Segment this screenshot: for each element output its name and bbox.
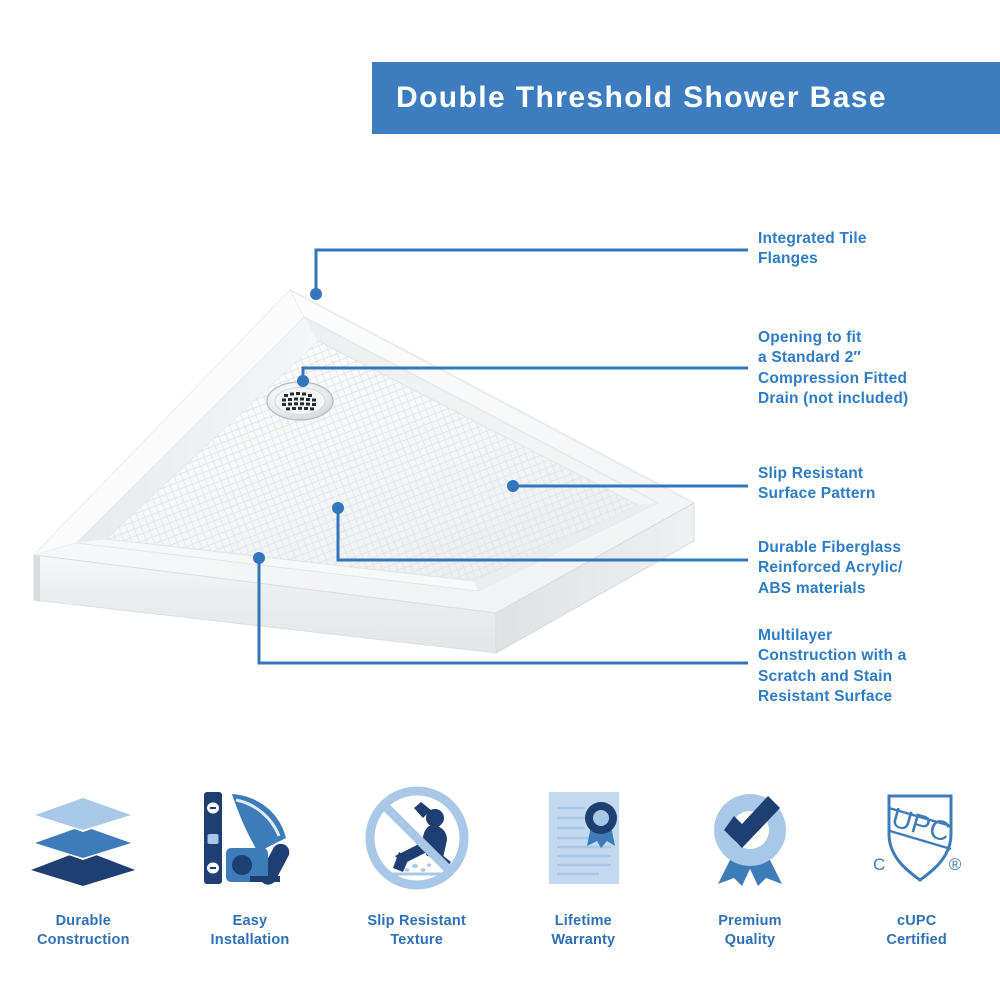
check-rosette-icon xyxy=(688,778,813,898)
feature-label: Lifetime Warranty xyxy=(551,912,615,949)
feature-cupc-certified: UPC C ® cUPC Certified xyxy=(833,778,1000,949)
stacked-layers-icon xyxy=(21,778,146,898)
callout-multilayer-construction: Multilayer Construction with a Scratch a… xyxy=(758,626,906,708)
feature-label: Durable Construction xyxy=(37,912,130,949)
leader-multilayer-construction xyxy=(259,558,748,663)
callout-drain-opening: Opening to fit a Standard 2″ Compression… xyxy=(758,328,908,410)
certificate-document-icon xyxy=(521,778,646,898)
feature-highlights-row: Durable Construction xyxy=(0,778,1000,973)
feature-label: Easy Installation xyxy=(211,912,290,949)
feature-label: Premium Quality xyxy=(718,912,781,949)
feature-premium-quality: Premium Quality xyxy=(667,778,834,949)
infographic-canvas: Double Threshold Shower Base xyxy=(0,0,1000,1000)
feature-slip-resistant: Slip Resistant Texture xyxy=(333,778,500,949)
leader-durable-materials xyxy=(338,508,748,560)
shield-left-mark: C xyxy=(873,855,885,874)
upc-shield-icon: UPC C ® xyxy=(854,778,979,898)
feature-durable-construction: Durable Construction xyxy=(0,778,167,949)
feature-label: cUPC Certified xyxy=(886,912,947,949)
callout-integrated-tile-flanges: Integrated Tile Flanges xyxy=(758,229,867,270)
shield-right-mark: ® xyxy=(948,855,961,874)
feature-easy-installation: Easy Installation xyxy=(167,778,334,949)
feature-label: Slip Resistant Texture xyxy=(367,912,466,949)
leader-integrated-tile-flanges xyxy=(316,250,748,294)
no-slip-warning-icon xyxy=(354,778,479,898)
callout-slip-resistant-surface: Slip Resistant Surface Pattern xyxy=(758,464,876,505)
feature-lifetime-warranty: Lifetime Warranty xyxy=(500,778,667,949)
tools-level-trowel-icon xyxy=(188,778,313,898)
leader-drain-opening xyxy=(303,368,748,381)
callout-durable-materials: Durable Fiberglass Reinforced Acrylic/ A… xyxy=(758,538,903,599)
leader-anchor-dots xyxy=(253,288,519,564)
